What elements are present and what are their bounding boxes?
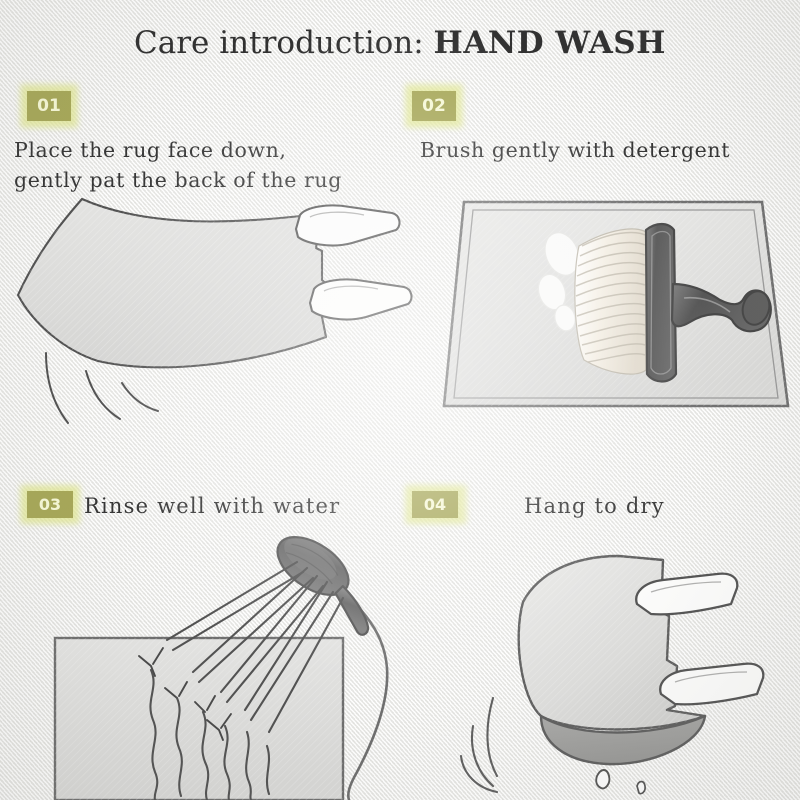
rug-shape-01 — [18, 199, 328, 367]
step-badge-04: 04 — [412, 491, 458, 518]
step-illustration-02 — [440, 188, 800, 420]
step-badge-03: 03 — [27, 491, 73, 518]
step-badge-01: 01 — [27, 91, 71, 121]
page-title: Care introduction: HAND WASH — [0, 24, 800, 62]
care-instruction-infographic: Care introduction: HAND WASH 01 02 03 04… — [0, 0, 800, 800]
page-title-emphasis: HAND WASH — [434, 25, 666, 61]
hand-upper-01 — [296, 205, 399, 245]
motion-lines-04 — [461, 698, 497, 792]
step-illustration-03 — [55, 520, 405, 800]
hand-lower-01 — [310, 279, 411, 319]
step-caption-03: Rinse well with water — [84, 491, 404, 521]
rug-shape-03 — [55, 638, 343, 800]
step-caption-02: Brush gently with detergent — [420, 135, 800, 165]
step-badge-02: 02 — [412, 91, 456, 121]
showerhead-icon — [263, 525, 393, 636]
step-caption-04: Hang to dry — [524, 491, 794, 521]
step-illustration-01 — [10, 185, 410, 425]
water-drops-04 — [596, 770, 645, 794]
shower-hose — [348, 610, 387, 800]
brush-bristles — [575, 229, 646, 374]
step-illustration-04 — [455, 520, 800, 800]
page-title-prefix: Care introduction: — [134, 25, 434, 61]
